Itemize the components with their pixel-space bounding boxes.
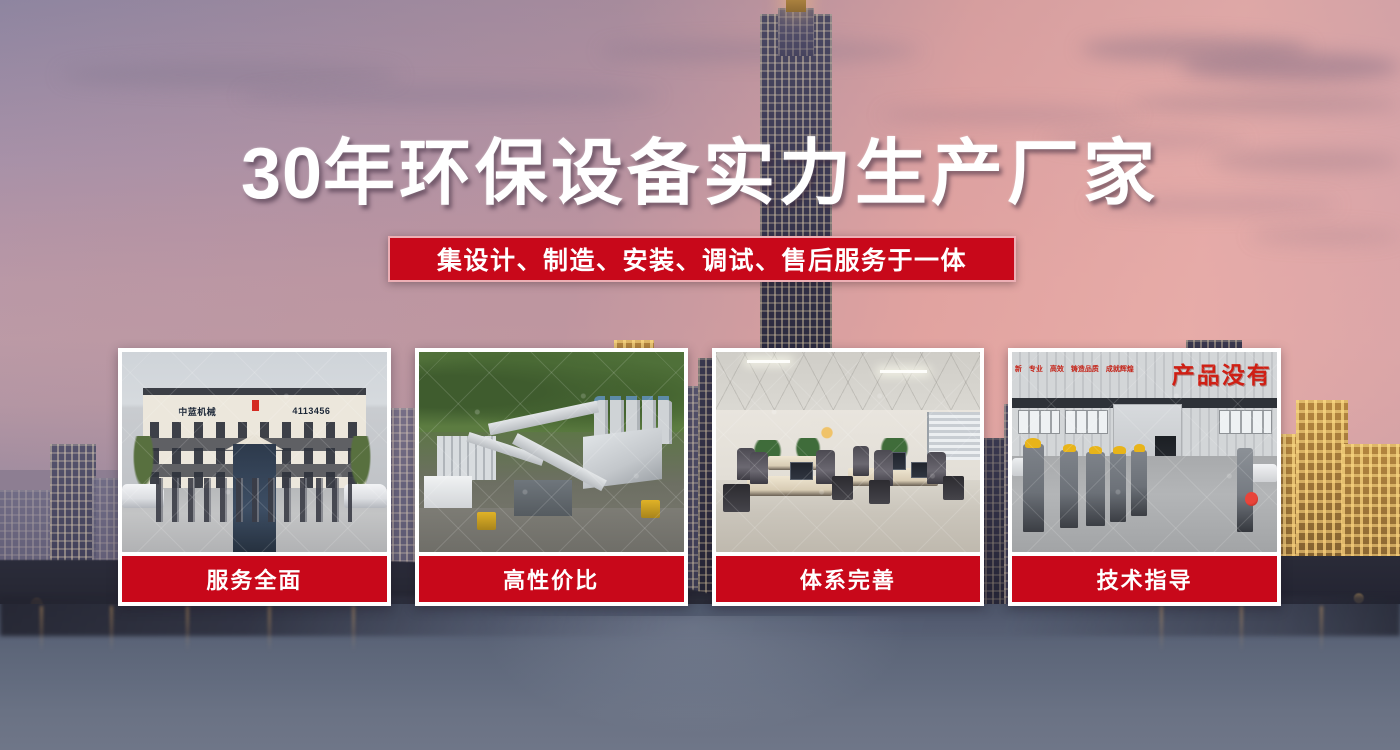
slogan-word: 高效 xyxy=(1050,366,1064,375)
office-chair xyxy=(869,480,890,504)
production-plant-aerial-photo xyxy=(419,352,684,552)
flagpole xyxy=(252,400,259,420)
water-light-reflection xyxy=(268,606,271,652)
company-headquarters-photo: 中蓝机械 4113456 xyxy=(122,352,387,552)
water-light-reflection xyxy=(186,606,189,652)
headline-years-number: 30 xyxy=(241,134,323,214)
slogan-word: 新 xyxy=(1015,366,1022,375)
worker xyxy=(1086,452,1105,526)
loader-machine xyxy=(477,512,496,530)
worker xyxy=(1060,450,1079,528)
workshop-team-photo: 产品没有 新 专业 高效 铸造品质 成就辉煌 xyxy=(1012,352,1277,552)
worker xyxy=(1131,450,1147,516)
landmark-tower-top xyxy=(778,8,814,56)
water-light-reflection xyxy=(1160,606,1163,652)
office-interior-photo xyxy=(716,352,981,552)
slogan-word: 铸造品质 xyxy=(1071,366,1099,375)
factory-window-row xyxy=(1219,410,1272,434)
hard-hat xyxy=(1063,444,1076,452)
staff-lineup xyxy=(156,478,352,522)
wall-slogan-small: 新 专业 高效 铸造品质 成就辉煌 xyxy=(1015,366,1134,375)
supervisor xyxy=(1237,448,1253,532)
brand-name: 中蓝机械 xyxy=(178,405,216,418)
tree xyxy=(133,436,154,488)
site-office xyxy=(424,476,472,508)
water-light-reflection xyxy=(1320,606,1323,652)
landmark-tower-crown xyxy=(786,0,806,12)
headline: 30年环保设备实力生产厂家 xyxy=(0,134,1400,214)
water-light-reflection xyxy=(1240,606,1243,652)
ceiling-light xyxy=(880,370,928,373)
subtitle-banner: 集设计、制造、安装、调试、售后服务于一体 xyxy=(388,236,1016,282)
feature-card-service[interactable]: 中蓝机械 4113456 xyxy=(118,348,391,606)
loading-shed xyxy=(514,480,572,516)
factory-window-row xyxy=(1018,410,1060,434)
office-chair xyxy=(943,476,964,500)
water-reflection-sheen xyxy=(480,616,910,736)
water-light-reflection xyxy=(352,606,355,652)
worker xyxy=(1110,452,1126,522)
wall-slogan-large: 产品没有 xyxy=(1172,356,1272,390)
ceiling-light xyxy=(747,360,789,363)
hard-hat xyxy=(1089,446,1102,454)
water-light-reflection xyxy=(40,606,43,652)
slogan-word: 专业 xyxy=(1029,366,1043,375)
headline-text: 年环保设备实力生产厂家 xyxy=(323,134,1159,214)
feature-card-training[interactable]: 产品没有 新 专业 高效 铸造品质 成就辉煌 xyxy=(1008,348,1281,606)
feature-card-row: 中蓝机械 4113456 xyxy=(118,348,1281,606)
loader-machine xyxy=(641,500,660,518)
ceiling-grid xyxy=(716,352,981,412)
office-chair xyxy=(723,484,749,512)
water-light-reflection xyxy=(110,606,113,652)
feature-card-system[interactable]: 体系完善 xyxy=(712,348,985,606)
tree xyxy=(350,436,371,488)
subtitle-text: 集设计、制造、安装、调试、售后服务于一体 xyxy=(437,241,967,277)
card-label: 体系完善 xyxy=(716,556,981,602)
card-label: 服务全面 xyxy=(122,556,387,602)
computer-monitor xyxy=(790,462,814,480)
factory-window-row xyxy=(1065,410,1107,434)
card-label: 高性价比 xyxy=(419,556,684,602)
office-worker xyxy=(750,452,769,484)
phone-number: 4113456 xyxy=(292,406,330,416)
office-worker xyxy=(853,446,869,476)
hard-hat xyxy=(1025,438,1041,448)
office-chair xyxy=(832,476,853,500)
hard-hat xyxy=(1134,444,1145,452)
promotional-banner: 30年环保设备实力生产厂家 集设计、制造、安装、调试、售后服务于一体 中蓝机械 … xyxy=(0,0,1400,750)
worker xyxy=(1023,444,1044,532)
hard-hat xyxy=(1113,446,1126,454)
feature-card-value[interactable]: 高性价比 xyxy=(415,348,688,606)
slogan-word: 成就辉煌 xyxy=(1106,366,1134,375)
card-label: 技术指导 xyxy=(1012,556,1277,602)
